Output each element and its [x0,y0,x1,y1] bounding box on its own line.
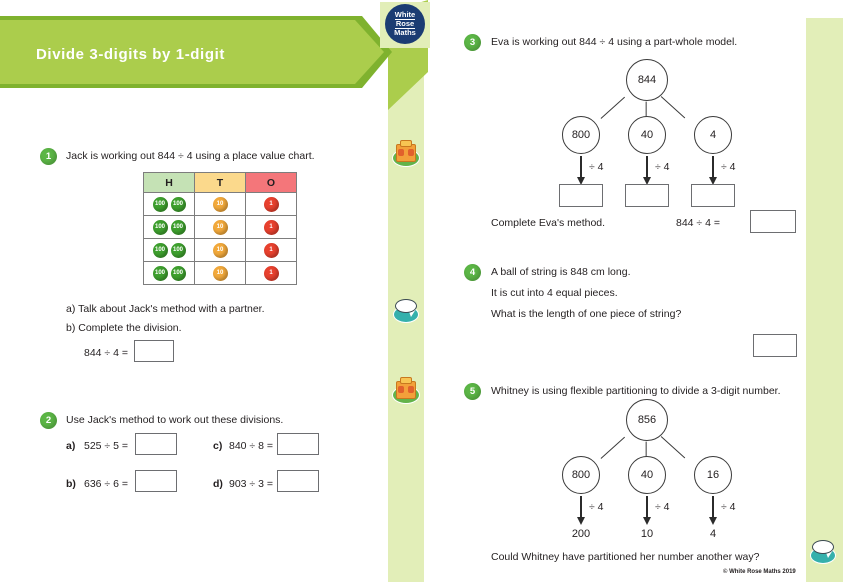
question-1-part-b: b) Complete the division. [66,322,182,334]
question-3-result-box-1[interactable] [559,184,603,207]
question-4-line-2: It is cut into 4 equal pieces. [491,287,618,299]
cell-hundreds: 100100 [144,262,195,285]
counter-100: 100 [153,197,168,212]
question-2-item-b-label: b) [66,478,76,490]
question-3-number: 3 [464,34,481,51]
counter-100: 100 [171,266,186,281]
question-2-item-c-label: c) [213,440,222,452]
table-row: 100100 10 1 [144,262,297,285]
divide-arrow [712,156,714,178]
question-3-equation: 844 ÷ 4 = [676,217,720,229]
cell-ones: 1 [246,262,297,285]
column-header-tens: T [195,173,246,193]
question-4-number: 4 [464,264,481,281]
question-5-result-2: 10 [626,528,668,540]
part-whole-branch-right [661,436,686,458]
counter-10: 10 [213,266,228,281]
counter-10: 10 [213,243,228,258]
divide-label: ÷ 4 [655,501,670,513]
cell-tens: 10 [195,262,246,285]
speech-icon-bubble [812,540,834,554]
cell-tens: 10 [195,193,246,216]
logo-circle: White Rose Maths [385,4,425,44]
question-1-prompt: Jack is working out 844 ÷ 4 using a plac… [66,150,315,162]
place-value-chart: H T O 100100 10 1 100100 10 1 100100 10 … [143,172,297,285]
counter-100: 100 [171,220,186,235]
counter-1: 1 [264,243,279,258]
divide-arrow [580,496,582,518]
logo-line-maths: Maths [394,29,416,37]
question-2-prompt: Use Jack's method to work out these divi… [66,414,283,426]
part-whole-part-node: 40 [628,116,666,154]
cell-hundreds: 100100 [144,193,195,216]
cell-hundreds: 100100 [144,239,195,262]
question-4-answer-box[interactable] [753,334,797,357]
cube-icon-dot [398,386,404,393]
cell-ones: 1 [246,216,297,239]
question-1-part-a: a) Talk about Jack's method with a partn… [66,303,265,315]
part-whole-part-node: 4 [694,116,732,154]
divide-arrow [646,496,648,518]
divide-label: ÷ 4 [655,161,670,173]
part-whole-whole-node: 844 [626,59,668,101]
page-header-banner: Divide 3-digits by 1-digit [0,16,392,88]
table-header-row: H T O [144,173,297,193]
cell-ones: 1 [246,239,297,262]
question-2-item-c-answer-box[interactable] [277,433,319,455]
question-1-number: 1 [40,148,57,165]
part-whole-branch-right [661,96,686,118]
question-2-item-a-expression: 525 ÷ 5 = [84,440,128,452]
counter-1: 1 [264,197,279,212]
question-2-item-b-answer-box[interactable] [135,470,177,492]
discussion-speech-icon [392,296,420,324]
counter-100: 100 [153,220,168,235]
cube-icon-dot [398,149,404,156]
table-row: 100100 10 1 [144,239,297,262]
counter-1: 1 [264,220,279,235]
question-5-result-3: 4 [692,528,734,540]
cell-tens: 10 [195,216,246,239]
part-whole-part-node: 800 [562,456,600,494]
divide-arrow [646,156,648,178]
question-3-result-box-3[interactable] [691,184,735,207]
part-whole-part-node: 16 [694,456,732,494]
practical-cube-icon [392,377,420,405]
page-title: Divide 3-digits by 1-digit [36,46,225,63]
counter-100: 100 [171,243,186,258]
divide-label: ÷ 4 [721,161,736,173]
question-2-item-d-answer-box[interactable] [277,470,319,492]
question-3-result-box-2[interactable] [625,184,669,207]
divide-label: ÷ 4 [721,501,736,513]
logo-line-white: White [395,11,415,19]
question-1-answer-box[interactable] [134,340,174,362]
question-5-footer: Could Whitney have partitioned her numbe… [491,551,760,563]
right-accent-strip [806,18,843,582]
column-header-ones: O [246,173,297,193]
question-1-equation: 844 ÷ 4 = [84,347,128,359]
cube-icon-dot [408,386,414,393]
part-whole-part-node: 40 [628,456,666,494]
cube-icon-top [400,377,412,384]
white-rose-maths-logo: White Rose Maths [380,2,430,48]
question-2-item-a-label: a) [66,440,75,452]
part-whole-whole-node: 856 [626,399,668,441]
table-row: 100100 10 1 [144,193,297,216]
question-3-prompt: Eva is working out 844 ÷ 4 using a part-… [491,36,737,48]
part-whole-branch-left [601,437,626,459]
question-2-item-d-label: d) [213,478,223,490]
question-3-answer-box[interactable] [750,210,796,233]
counter-10: 10 [213,197,228,212]
question-5-prompt: Whitney is using flexible partitioning t… [491,385,781,397]
counter-100: 100 [153,266,168,281]
part-whole-branch-left [601,97,626,119]
question-2-item-a-answer-box[interactable] [135,433,177,455]
question-4-line-3: What is the length of one piece of strin… [491,308,681,320]
cell-hundreds: 100100 [144,216,195,239]
cell-tens: 10 [195,239,246,262]
part-whole-part-node: 800 [562,116,600,154]
counter-100: 100 [171,197,186,212]
discussion-speech-icon [809,537,837,565]
divide-arrow [712,496,714,518]
question-4-line-1: A ball of string is 848 cm long. [491,266,631,278]
question-2-number: 2 [40,412,57,429]
table-row: 100100 10 1 [144,216,297,239]
cube-icon-top [400,140,412,147]
divide-arrow [580,156,582,178]
counter-1: 1 [264,266,279,281]
divide-label: ÷ 4 [589,161,604,173]
speech-icon-bubble [395,299,417,313]
copyright-notice: © White Rose Maths 2019 [723,569,796,575]
question-2-item-b-expression: 636 ÷ 6 = [84,478,128,490]
practical-cube-icon [392,140,420,168]
question-5-number: 5 [464,383,481,400]
question-2-item-c-expression: 840 ÷ 8 = [229,440,273,452]
counter-10: 10 [213,220,228,235]
question-2-item-d-expression: 903 ÷ 3 = [229,478,273,490]
cell-ones: 1 [246,193,297,216]
question-3-footer: Complete Eva's method. [491,217,605,229]
cube-icon-dot [408,149,414,156]
divide-label: ÷ 4 [589,501,604,513]
column-header-hundreds: H [144,173,195,193]
counter-100: 100 [153,243,168,258]
question-5-result-1: 200 [560,528,602,540]
